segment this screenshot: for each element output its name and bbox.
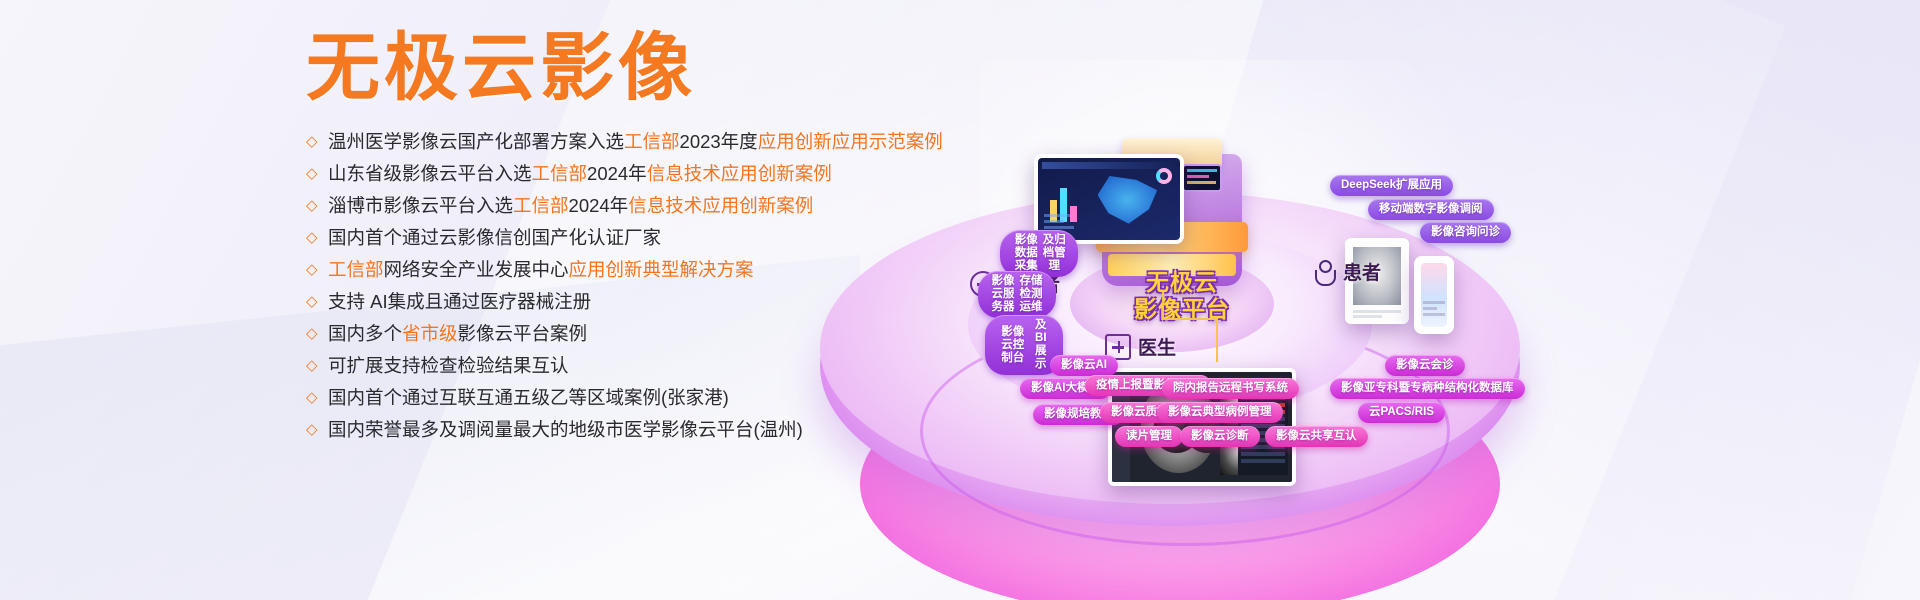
bullet-plain-span: 2024年 <box>569 195 629 216</box>
bullet-highlight-span: 省市级 <box>402 323 458 344</box>
diamond-bullet-icon: ◇ <box>306 256 328 284</box>
mobile-phone-mockup <box>1414 256 1454 334</box>
diamond-bullet-icon: ◇ <box>306 128 328 156</box>
bullet-plain-span: 2023年度 <box>680 131 758 152</box>
bullet-highlight-span: 应用创新典型解决方案 <box>569 259 754 280</box>
feature-bullet-item: ◇国内首个通过云影像信创国产化认证厂家 <box>306 224 946 256</box>
role-doctor: 医生 <box>1105 333 1176 360</box>
diamond-bullet-icon: ◇ <box>306 288 328 316</box>
role-doctor-label: 医生 <box>1138 333 1176 360</box>
feature-bullet-text: 国内首个通过互联互通五级乙等区域案例(张家港) <box>328 384 729 412</box>
feature-bullet-text: 可扩展支持检查检验结果互认 <box>328 352 569 380</box>
bullet-plain-span: 国内首个通过云影像信创国产化认证厂家 <box>328 227 661 248</box>
capability-pill[interactable]: 云PACS/RIS <box>1358 402 1445 423</box>
diamond-bullet-icon: ◇ <box>306 384 328 412</box>
feature-bullet-item: ◇温州医学影像云国产化部署方案入选工信部2023年度应用创新应用示范案例 <box>306 128 946 160</box>
feature-bullet-text: 淄博市影像云平台入选工信部2024年信息技术应用创新案例 <box>328 192 813 220</box>
bullet-highlight-span: 工信部 <box>513 195 569 216</box>
banner-canvas: 无极云影像 ◇温州医学影像云国产化部署方案入选工信部2023年度应用创新应用示范… <box>0 0 1920 600</box>
capability-pill[interactable]: 移动端数字影像调阅 <box>1368 199 1494 220</box>
feature-bullet-text: 支持 AI集成且通过医疗器械注册 <box>328 288 591 316</box>
bullet-plain-span: 国内多个 <box>328 323 402 344</box>
feature-bullet-text: 国内荣誉最多及调阅量最大的地级市医学影像云平台(温州) <box>328 416 803 444</box>
capability-pill[interactable]: 影像咨询问诊 <box>1420 222 1511 243</box>
capability-pill[interactable]: 院内报告远程书写系统 <box>1162 378 1299 399</box>
feature-bullet-text: 工信部网络安全产业发展中心应用创新典型解决方案 <box>328 256 754 284</box>
bullet-plain-span: 山东省级影像云平台入选 <box>328 163 532 184</box>
capability-pill[interactable]: 影像云AI <box>1050 355 1118 376</box>
feature-bullet-text: 温州医学影像云国产化部署方案入选工信部2023年度应用创新应用示范案例 <box>328 128 943 156</box>
bullet-plain-span: 国内荣誉最多及调阅量最大的地级市医学影像云平台(温州) <box>328 419 803 440</box>
bullet-plain-span: 2024年 <box>587 163 647 184</box>
capability-pill[interactable]: 影像云共享互认 <box>1265 426 1368 447</box>
capability-pill[interactable]: 影像云服务器存储检测运维 <box>978 271 1056 318</box>
feature-bullet-item: ◇淄博市影像云平台入选工信部2024年信息技术应用创新案例 <box>306 192 946 224</box>
bullet-highlight-span: 工信部 <box>328 259 384 280</box>
capability-pill[interactable]: 影像云会诊 <box>1385 355 1465 376</box>
bullet-highlight-span: 信息技术应用创新案例 <box>647 163 832 184</box>
bullet-plain-span: 淄博市影像云平台入选 <box>328 195 513 216</box>
capability-pill[interactable]: 影像亚专科暨专病种结构化数据库 <box>1330 378 1525 399</box>
left-content-panel: 无极云影像 ◇温州医学影像云国产化部署方案入选工信部2023年度应用创新应用示范… <box>0 0 960 600</box>
bullet-highlight-span: 信息技术应用创新案例 <box>628 195 813 216</box>
bullet-plain-span: 影像云平台案例 <box>458 323 588 344</box>
bullet-plain-span: 支持 AI集成且通过医疗器械注册 <box>328 291 591 312</box>
connector-vertical-2 <box>1216 318 1218 362</box>
feature-bullet-text: 国内多个省市级影像云平台案例 <box>328 320 587 348</box>
role-patient-label: 患者 <box>1343 258 1381 285</box>
bullet-plain-span: 网络安全产业发展中心 <box>384 259 569 280</box>
diamond-bullet-icon: ◇ <box>306 224 328 252</box>
capability-pill[interactable]: 影像云诊断 <box>1180 426 1260 447</box>
capability-pill[interactable]: 读片管理 <box>1115 426 1183 447</box>
capability-pill[interactable]: 影像云典型病例管理 <box>1157 402 1283 423</box>
bullet-plain-span: 可扩展支持检查检验结果互认 <box>328 355 569 376</box>
diamond-bullet-icon: ◇ <box>306 192 328 220</box>
capability-pill[interactable]: DeepSeek扩展应用 <box>1330 175 1453 196</box>
tower-screen-right <box>1182 164 1222 192</box>
diamond-bullet-icon: ◇ <box>306 416 328 444</box>
bullet-plain-span: 温州医学影像云国产化部署方案入选 <box>328 131 624 152</box>
bullet-highlight-span: 应用创新应用示范案例 <box>758 131 943 152</box>
page-title: 无极云影像 <box>306 26 696 110</box>
diamond-bullet-icon: ◇ <box>306 320 328 348</box>
capability-pill[interactable]: 影像数据采集及归档管理 <box>1000 230 1078 277</box>
person-icon <box>1310 259 1336 285</box>
feature-bullet-item: ◇山东省级影像云平台入选工信部2024年信息技术应用创新案例 <box>306 160 946 192</box>
connector-horizontal <box>1162 318 1216 320</box>
bullet-highlight-span: 工信部 <box>624 131 680 152</box>
feature-bullet-text: 国内首个通过云影像信创国产化认证厂家 <box>328 224 661 252</box>
center-label-line1: 无极云 <box>1082 270 1282 297</box>
bullet-highlight-span: 工信部 <box>532 163 588 184</box>
bullet-plain-span: 国内首个通过互联互通五级乙等区域案例(张家港) <box>328 387 729 408</box>
role-patient: 患者 <box>1310 258 1381 285</box>
connector-vertical <box>1162 292 1164 318</box>
diamond-bullet-icon: ◇ <box>306 352 328 380</box>
diamond-bullet-icon: ◇ <box>306 160 328 188</box>
center-platform-label: 无极云 影像平台 <box>1082 270 1282 324</box>
feature-bullet-text: 山东省级影像云平台入选工信部2024年信息技术应用创新案例 <box>328 160 832 188</box>
